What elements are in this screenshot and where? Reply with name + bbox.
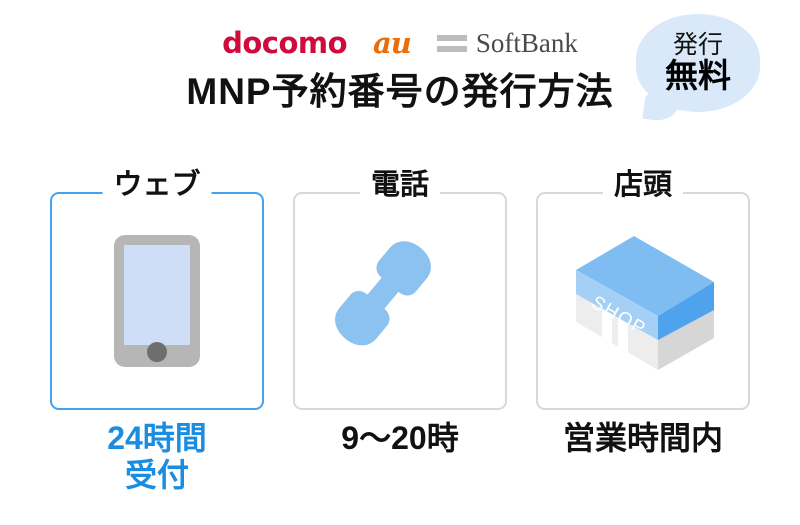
method-card-phone-icon-area [295,194,505,408]
method-card-row: ウェブ 電話 店頭 [50,192,750,412]
method-card-web[interactable]: ウェブ [50,192,264,410]
method-card-web-icon-area [52,194,262,408]
method-caption-web-line-1: 24時間 [50,420,264,457]
badge-line-1: 発行 [673,32,723,58]
method-caption-phone: 9〜20時 [293,420,507,494]
method-caption-store-line-1: 営業時間内 [536,420,750,457]
smartphone-icon [114,235,200,367]
method-caption-row: 24時間 受付 9〜20時 営業時間内 [50,420,750,494]
free-issue-badge: 発行 無料 [636,14,760,112]
smartphone-home-button [147,342,167,362]
method-caption-phone-line-1: 9〜20時 [293,420,507,457]
softbank-wordmark: SoftBank [476,30,578,57]
method-caption-web: 24時間 受付 [50,420,264,494]
au-logo: au [373,29,411,58]
badge-text: 発行 無料 [636,14,760,112]
method-card-store[interactable]: 店頭 SHOP [536,192,750,410]
softbank-logo: SoftBank [437,30,578,57]
method-caption-web-line-2: 受付 [50,457,264,494]
telephone-handset-icon [330,231,470,371]
shop-building-icon: SHOP [554,220,732,382]
method-card-phone[interactable]: 電話 [293,192,507,410]
method-card-store-icon-area: SHOP [538,194,748,408]
smartphone-screen [124,245,190,345]
method-caption-store: 営業時間内 [536,420,750,494]
badge-line-2: 無料 [665,59,731,94]
docomo-logo: docomo [222,29,347,58]
softbank-bars-icon [437,35,467,52]
